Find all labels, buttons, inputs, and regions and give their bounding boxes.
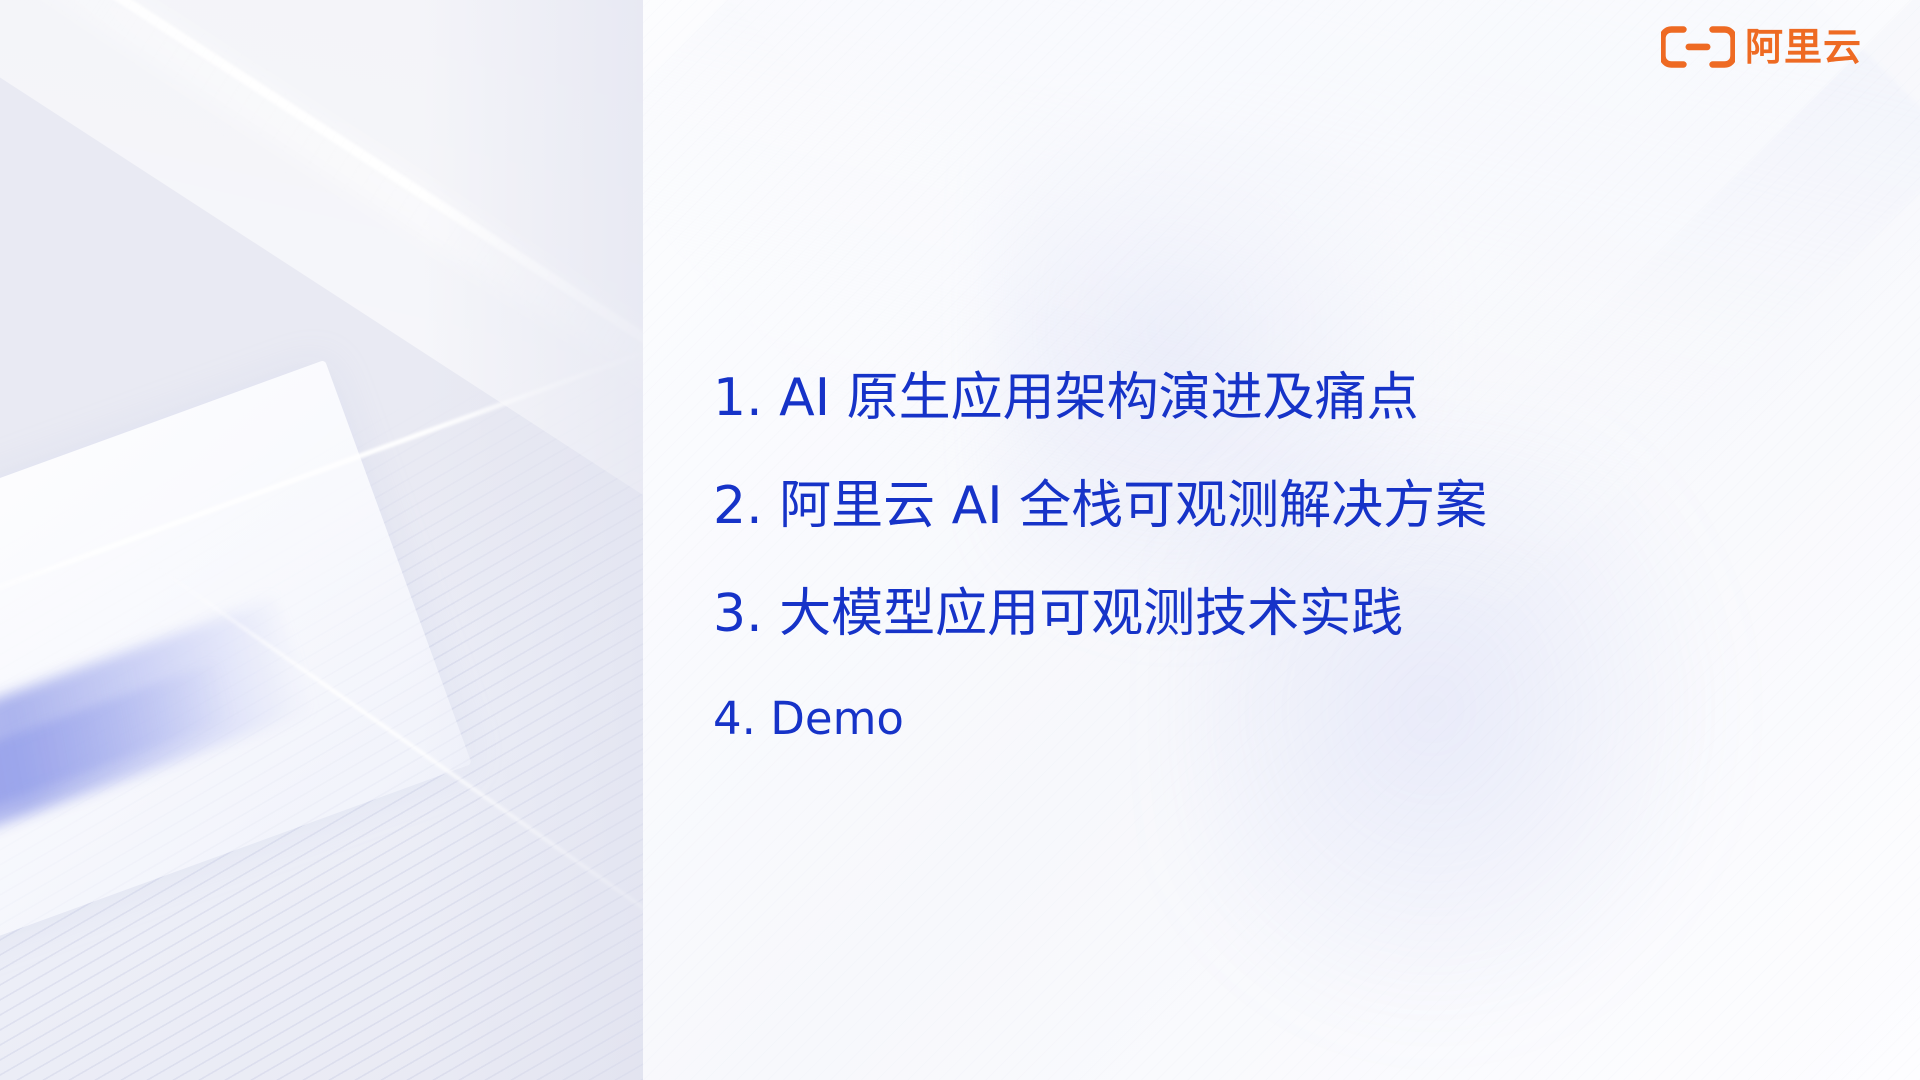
panel-right-shade — [423, 0, 643, 1080]
alibaba-cloud-logo-text: 阿里云 — [1745, 28, 1862, 66]
agenda-item-2: 2. 阿里云 AI 全栈可观测解决方案 — [713, 480, 1813, 532]
alibaba-cloud-bracket-icon — [1661, 26, 1735, 68]
left-decorative-panel — [0, 0, 643, 1080]
agenda-item-3: 3. 大模型应用可观测技术实践 — [713, 588, 1813, 640]
agenda-list: 1. AI 原生应用架构演进及痛点 2. 阿里云 AI 全栈可观测解决方案 3.… — [713, 372, 1813, 741]
agenda-item-1: 1. AI 原生应用架构演进及痛点 — [713, 372, 1813, 424]
slide-root: 阿里云 1. AI 原生应用架构演进及痛点 2. 阿里云 AI 全栈可观测解决方… — [0, 0, 1920, 1080]
agenda-item-4: 4. Demo — [713, 696, 1813, 741]
alibaba-cloud-logo: 阿里云 — [1661, 26, 1862, 68]
